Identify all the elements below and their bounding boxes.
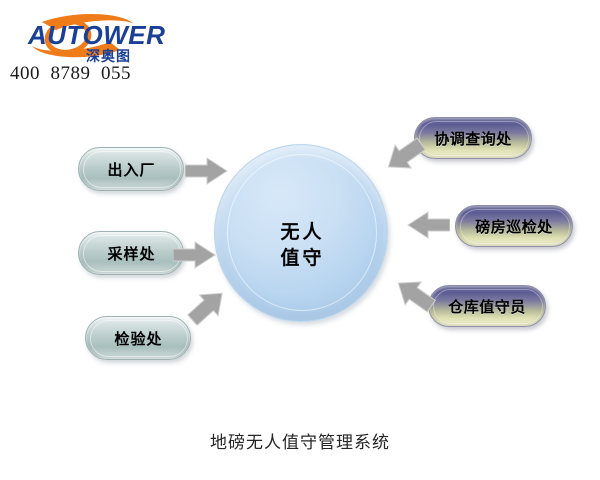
node-warehouse-attendant[interactable]: 仓库值守员 xyxy=(428,285,546,327)
logo-svg: AUTOWER 深奥图 xyxy=(12,10,192,66)
node-label: 检验处 xyxy=(113,328,162,349)
node-label: 磅房巡检处 xyxy=(475,216,553,237)
node-coordination-inquiry-department[interactable]: 协调查询处 xyxy=(414,117,532,159)
center-node-unattended[interactable]: 无人 值守 xyxy=(214,144,388,322)
center-node-line1: 无人 xyxy=(277,220,324,246)
phone-number: 400 8789 055 xyxy=(10,63,131,85)
arrow-left-icon xyxy=(406,210,450,240)
diagram-caption: 地磅无人值守管理系统 xyxy=(0,428,600,453)
node-label: 采样处 xyxy=(106,243,155,264)
node-inspection-department[interactable]: 检验处 xyxy=(85,316,191,360)
node-weighbridge-inspection-department[interactable]: 磅房巡检处 xyxy=(455,205,573,247)
center-node-label: 无人 值守 xyxy=(215,145,387,321)
center-node-line2: 值守 xyxy=(277,246,324,272)
node-label: 协调查询处 xyxy=(434,128,512,149)
node-label: 仓库值守员 xyxy=(448,296,526,317)
node-label: 出入厂 xyxy=(106,159,155,180)
node-sampling-department[interactable]: 采样处 xyxy=(78,231,184,275)
node-entry-exit-factory[interactable]: 出入厂 xyxy=(78,147,184,191)
logo-wordmark: AUTOWER xyxy=(27,20,165,50)
diagram-canvas: AUTOWER 深奥图 400 8789 055 无人 值守 出入厂 采样处 检… xyxy=(0,0,600,480)
company-logo: AUTOWER 深奥图 xyxy=(12,10,192,66)
